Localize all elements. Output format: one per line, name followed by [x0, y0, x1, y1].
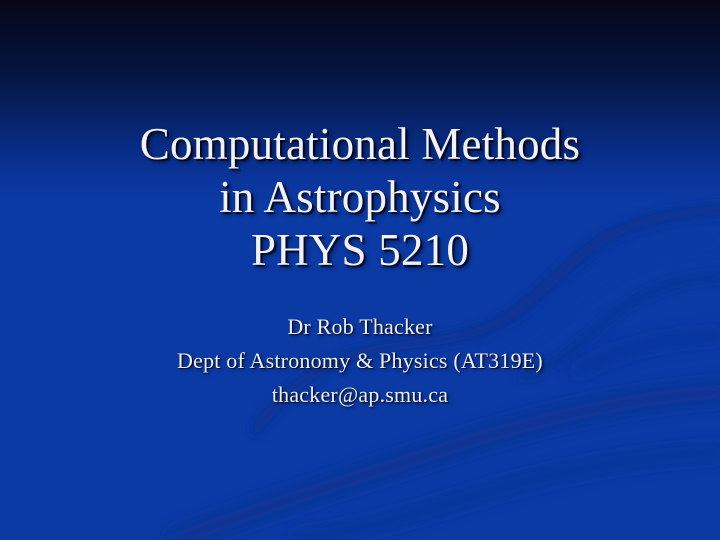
presenter-name: Dr Rob Thacker	[0, 310, 720, 344]
slide-title: Computational Methods in Astrophysics PH…	[0, 118, 720, 277]
slide-subtitle: Dr Rob Thacker Dept of Astronomy & Physi…	[0, 310, 720, 412]
slide-content: Computational Methods in Astrophysics PH…	[0, 0, 720, 540]
title-line-1: Computational Methods	[0, 118, 720, 171]
title-slide: Computational Methods in Astrophysics PH…	[0, 0, 720, 540]
title-line-2: in Astrophysics	[0, 171, 720, 224]
department-affiliation: Dept of Astronomy & Physics (AT319E)	[0, 344, 720, 378]
contact-email: thacker@ap.smu.ca	[0, 378, 720, 412]
title-line-3-course-code: PHYS 5210	[0, 224, 720, 277]
